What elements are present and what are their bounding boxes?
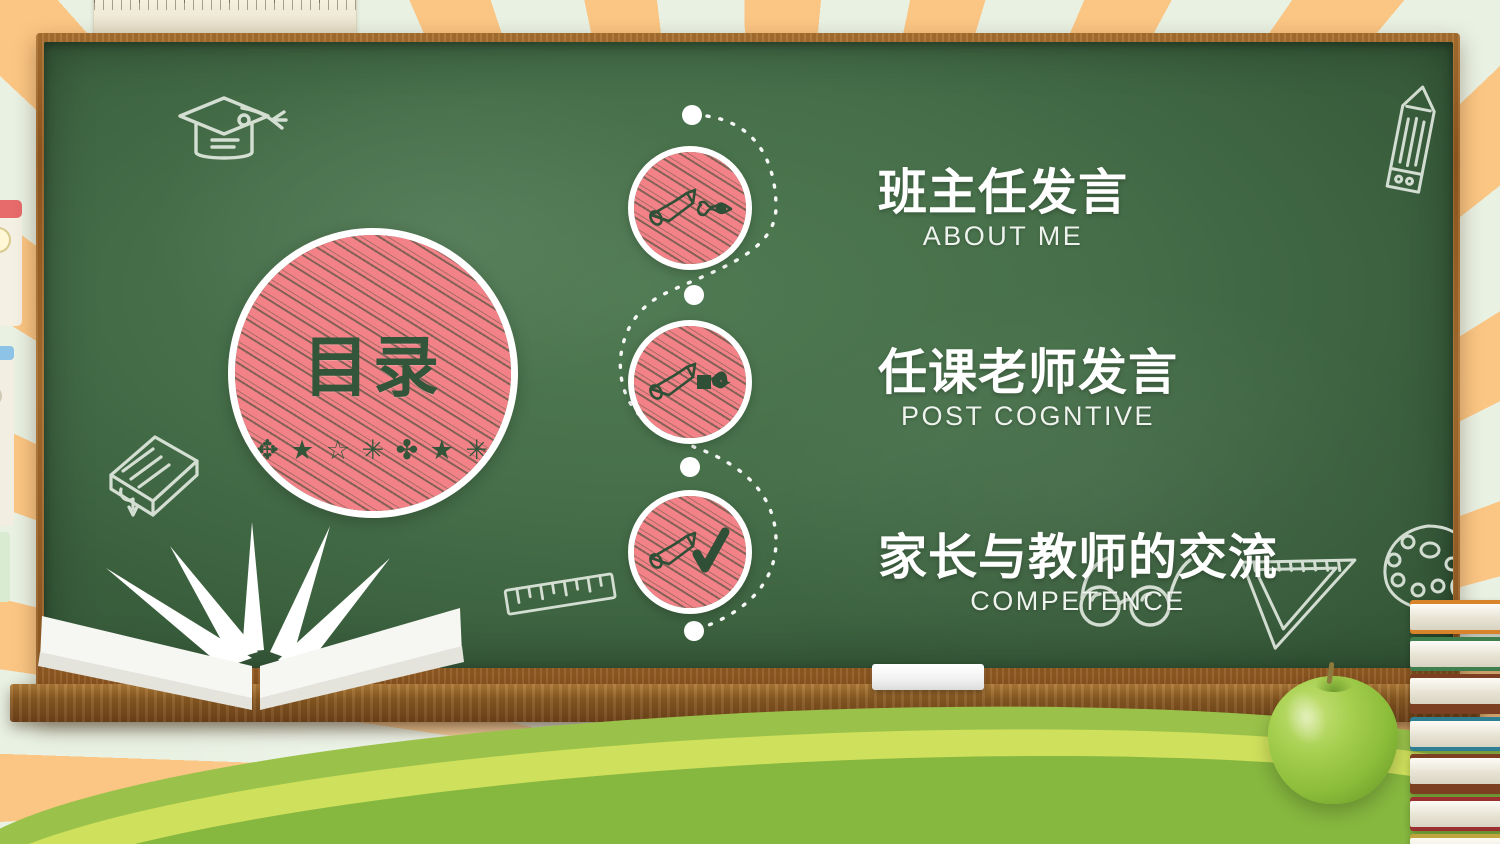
stacked-books bbox=[1410, 600, 1500, 844]
toc-title-circle: 目录 ✥ ★ ☆ ✳ ✤ ★ ✳ bbox=[228, 228, 518, 518]
book-item bbox=[1410, 754, 1500, 794]
toc-item-1-subtitle: ABOUT ME bbox=[878, 221, 1128, 252]
toc-item-2-subtitle: POST COGNTIVE bbox=[878, 401, 1178, 432]
pencil-check-icon bbox=[634, 496, 746, 608]
toc-title-text: 目录 bbox=[235, 235, 511, 511]
toc-item-2[interactable]: 任课老师发言 POST COGNTIVE bbox=[878, 348, 1178, 432]
toc-item-2-title: 任课老师发言 bbox=[878, 348, 1178, 399]
book-doodle bbox=[99, 427, 207, 523]
book-item bbox=[1410, 834, 1500, 844]
apple-highlight bbox=[1278, 685, 1333, 751]
toc-item-1-title: 班主任发言 bbox=[878, 168, 1128, 219]
chalkboard-eraser bbox=[872, 664, 984, 690]
step-icon-circle-1[interactable] bbox=[628, 146, 752, 270]
presentation-slide: 目录 ✥ ★ ☆ ✳ ✤ ★ ✳ bbox=[0, 0, 1500, 844]
apple-dent bbox=[1314, 674, 1354, 692]
book-item bbox=[1410, 717, 1500, 751]
book-item bbox=[1410, 600, 1500, 634]
toc-decoration: ✥ ★ ☆ ✳ ✤ ★ ✳ bbox=[235, 435, 511, 466]
desk-ruler bbox=[93, 0, 357, 34]
toc-item-1[interactable]: 班主任发言 ABOUT ME bbox=[878, 168, 1128, 252]
green-apple bbox=[1268, 676, 1398, 804]
ruler-major-ticks bbox=[94, 0, 356, 3]
open-book bbox=[20, 520, 490, 740]
graduation-cap-doodle bbox=[172, 90, 290, 174]
book-item bbox=[1410, 637, 1500, 671]
toc-item-3[interactable]: 家长与教师的交流 COMPETENCE bbox=[878, 533, 1278, 617]
toc-item-3-subtitle: COMPETENCE bbox=[878, 586, 1278, 617]
pencil-write-icon bbox=[634, 152, 746, 264]
toc-item-3-title: 家长与教师的交流 bbox=[878, 533, 1278, 584]
step-icon-circle-2[interactable] bbox=[628, 320, 752, 444]
step-icon-circle-3[interactable] bbox=[628, 490, 752, 614]
pencil-pen-icon bbox=[634, 326, 746, 438]
book-item bbox=[1410, 797, 1500, 831]
book-item bbox=[1410, 674, 1500, 714]
pencil-doodle bbox=[1373, 78, 1451, 206]
